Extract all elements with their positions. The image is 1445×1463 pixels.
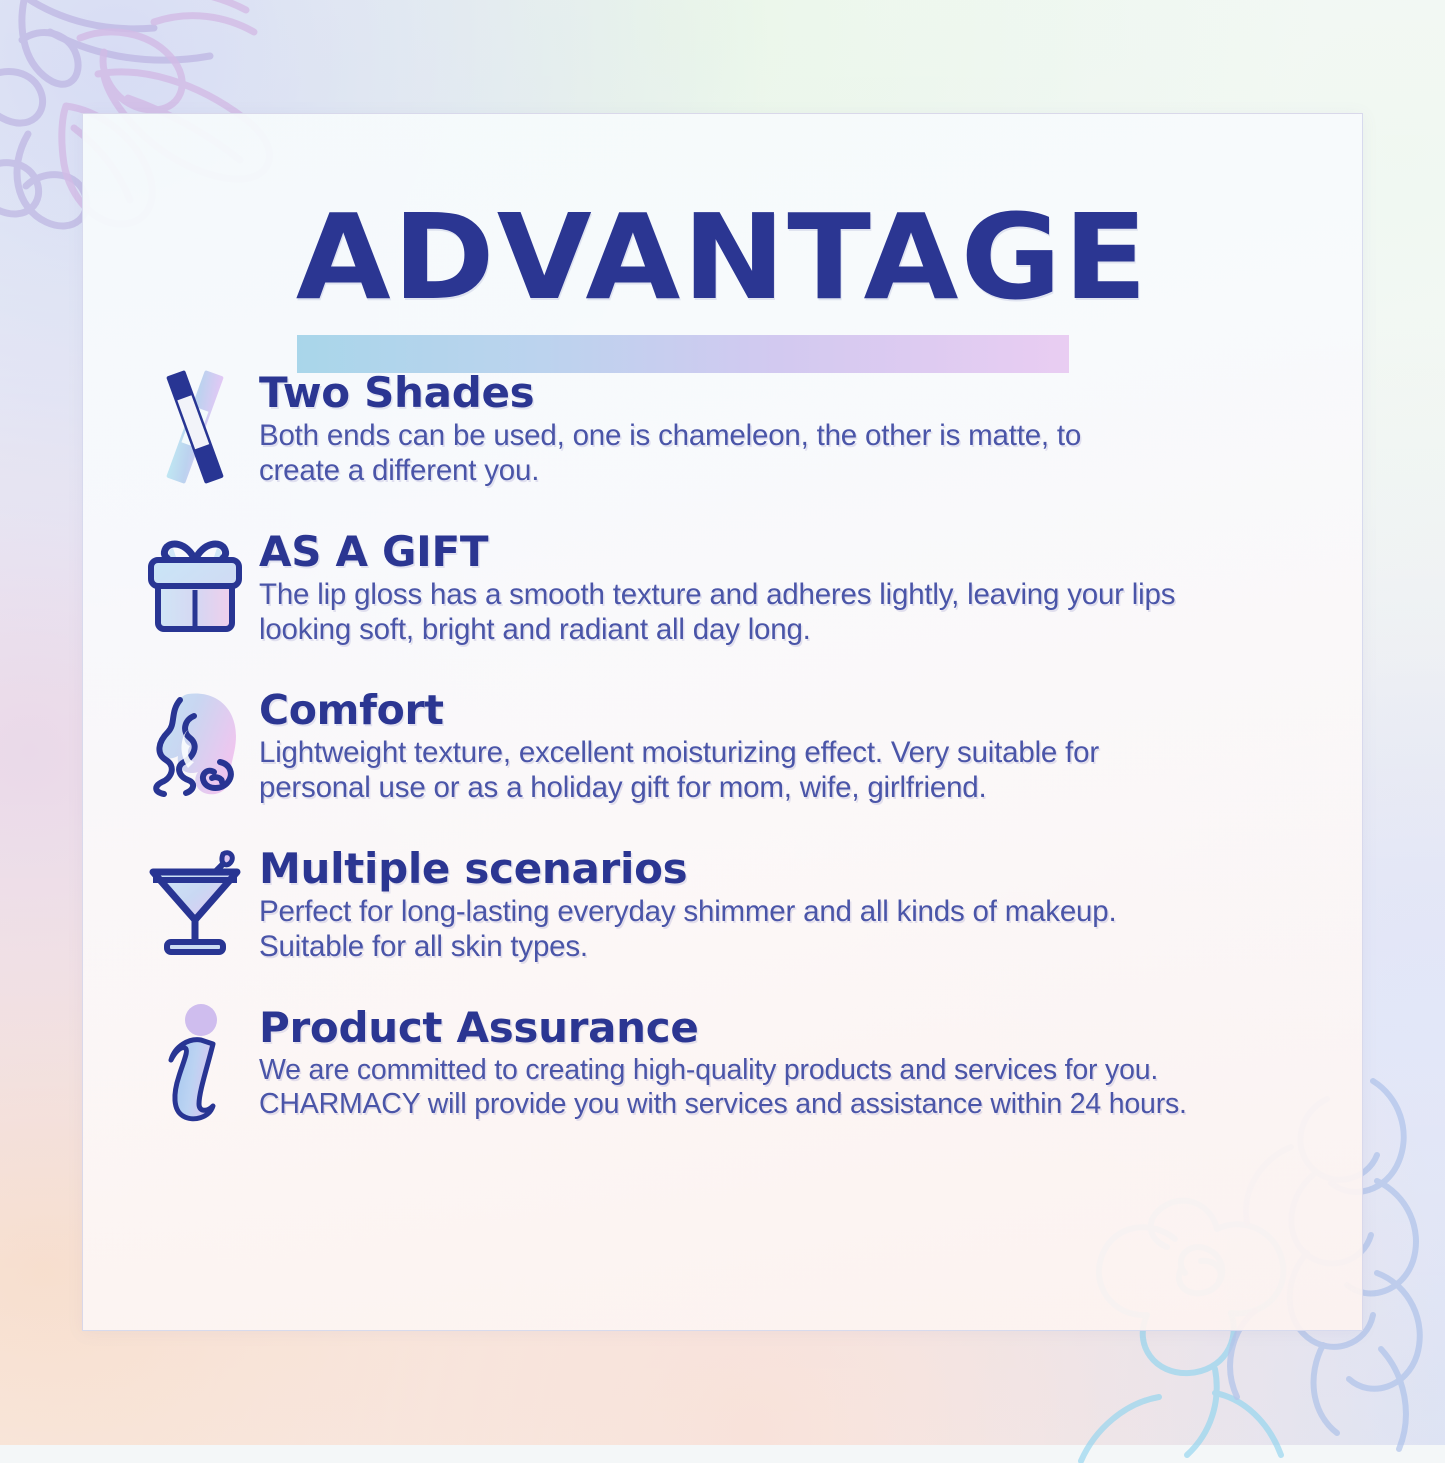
icon-cell [131,842,259,964]
feature-desc-line: create a different you. [259,454,1332,489]
feature-desc-line: looking soft, bright and radiant all day… [259,613,1332,648]
martini-glass-icon [143,846,247,960]
text-cell: Multiple scenarios Perfect for long-last… [259,842,1332,965]
feature-title: Two Shades [259,370,1332,415]
feature-item-two-shades: Two Shades Both ends can be used, one is… [131,366,1332,489]
advantage-card: ADVANTAGE [82,113,1363,1331]
feature-title: AS A GIFT [259,529,1332,574]
feature-title: Comfort [259,688,1332,732]
feature-description: Lightweight texture, excellent moisturiz… [259,736,1332,806]
icon-cell [131,525,259,647]
page-title: ADVANTAGE [57,198,1387,316]
icon-cell [131,684,259,806]
feature-desc-line: CHARMACY will provide you with services … [259,1088,1332,1122]
title-block: ADVANTAGE [83,180,1362,330]
text-cell: Comfort Lightweight texture, excellent m… [259,684,1332,806]
feature-desc-line: The lip gloss has a smooth texture and a… [259,578,1332,613]
feature-item-as-a-gift: AS A GIFT The lip gloss has a smooth tex… [131,525,1332,648]
icon-cell [131,366,259,488]
feature-desc-line: personal use or as a holiday gift for mo… [259,771,1332,806]
feature-desc-line: Both ends can be used, one is chameleon,… [259,419,1332,454]
text-cell: Product Assurance We are committed to cr… [259,1001,1332,1122]
crossed-lipstick-sticks-icon [143,368,247,486]
woman-profile-hair-icon [142,690,248,800]
text-cell: AS A GIFT The lip gloss has a smooth tex… [259,525,1332,648]
feature-description: We are committed to creating high-qualit… [259,1054,1332,1121]
gift-box-icon [143,534,247,638]
feature-item-comfort: Comfort Lightweight texture, excellent m… [131,684,1332,806]
feature-description: Perfect for long-lasting everyday shimme… [259,895,1332,965]
feature-item-product-assurance: Product Assurance We are committed to cr… [131,1001,1332,1123]
feature-desc-line: Lightweight texture, excellent moisturiz… [259,736,1332,771]
text-cell: Two Shades Both ends can be used, one is… [259,366,1332,489]
feature-list: Two Shades Both ends can be used, one is… [131,366,1332,1123]
feature-title: Product Assurance [259,1005,1332,1050]
feature-title: Multiple scenarios [259,846,1332,891]
feature-desc-line: We are committed to creating high-qualit… [259,1054,1332,1088]
feature-desc-line: Suitable for all skin types. [259,930,1332,965]
icon-cell [131,1001,259,1123]
feature-description: Both ends can be used, one is chameleon,… [259,419,1332,489]
feature-desc-line: Perfect for long-lasting everyday shimme… [259,895,1332,930]
feature-item-multiple-scenarios: Multiple scenarios Perfect for long-last… [131,842,1332,965]
feature-description: The lip gloss has a smooth texture and a… [259,578,1332,648]
info-italic-i-icon [151,1000,239,1124]
